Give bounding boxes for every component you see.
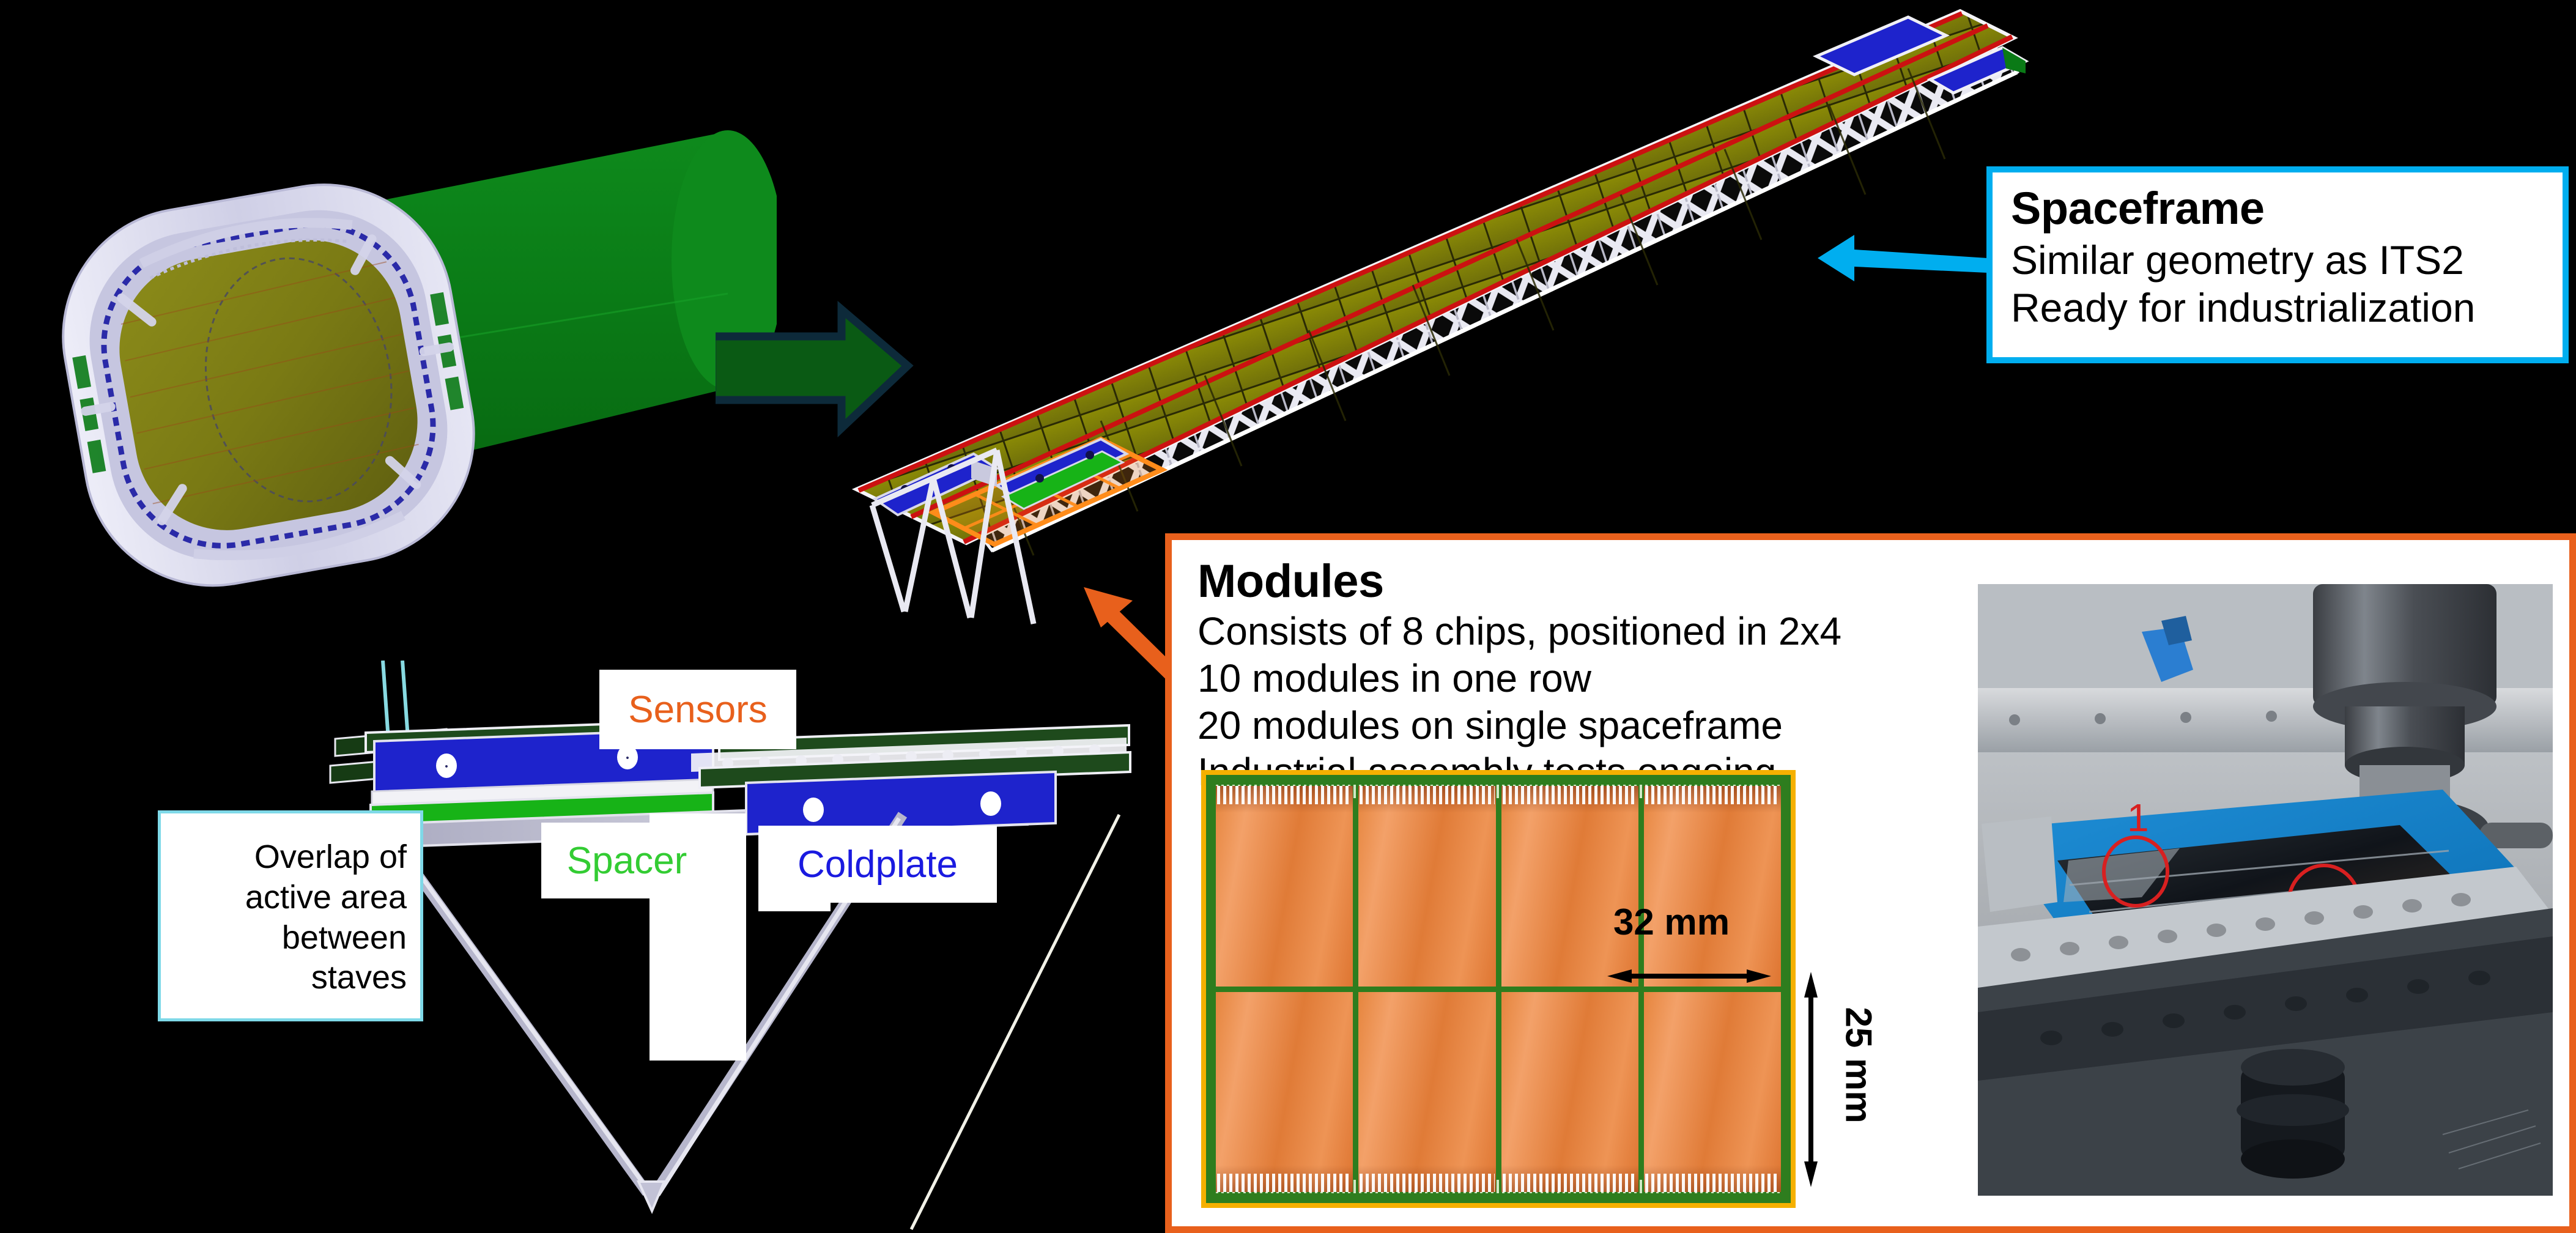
chip-cell xyxy=(1216,992,1353,1193)
assembly-photo: 1 2 xyxy=(1978,584,2553,1196)
spaceframe-line-2: Ready for industrialization xyxy=(2011,284,2547,332)
label-sensors: Sensors xyxy=(599,670,796,749)
barrel-cad-render xyxy=(6,31,777,593)
slide-canvas: Spaceframe Similar geometry as ITS2 Read… xyxy=(0,0,2576,1233)
annotation-label-1: 1 xyxy=(2127,796,2149,840)
svg-text:•: • xyxy=(626,753,629,763)
module-chip-diagram xyxy=(1201,770,1796,1208)
dimension-height-arrow xyxy=(1804,972,1818,1187)
spaceframe-callout: Spaceframe Similar geometry as ITS2 Read… xyxy=(1986,166,2569,363)
overlap-line-1: Overlap of xyxy=(171,837,407,878)
dimension-height: 25 mm xyxy=(1802,972,1893,1192)
modules-text-block: Modules Consists of 8 chips, positioned … xyxy=(1197,555,1950,796)
chip-cell xyxy=(1358,992,1495,1193)
label-sensors-text: Sensors xyxy=(628,688,767,731)
overlap-line-3: between xyxy=(171,918,407,958)
overlap-line-4: staves xyxy=(171,958,407,998)
dimension-width: 32 mm xyxy=(1607,901,1780,987)
modules-title: Modules xyxy=(1197,555,1950,608)
svg-text:•: • xyxy=(445,761,448,772)
spaceframe-line-1: Similar geometry as ITS2 xyxy=(2011,237,2547,284)
dimension-width-label: 32 mm xyxy=(1613,901,1730,943)
modules-callout: Modules Consists of 8 chips, positioned … xyxy=(1165,533,2576,1233)
label-coldplate-text: Coldplate xyxy=(798,843,958,886)
chip-grid xyxy=(1216,786,1781,1192)
spaceframe-title: Spaceframe xyxy=(2011,183,2547,234)
overlap-line-2: active area xyxy=(171,878,407,918)
modules-line-2: 10 modules in one row xyxy=(1197,655,1950,702)
label-spacer: Spacer xyxy=(541,823,712,898)
spaceframe-pointer-arrow xyxy=(1810,220,1994,306)
modules-line-1: Consists of 8 chips, positioned in 2x4 xyxy=(1197,608,1950,655)
dimension-height-label: 25 mm xyxy=(1837,1007,1879,1123)
label-spacer-text: Spacer xyxy=(567,839,687,883)
overlap-callout: Overlap of active area between staves xyxy=(158,810,423,1021)
dimension-width-arrow xyxy=(1607,969,1771,983)
label-coldplate: Coldplate xyxy=(758,826,997,903)
chip-cell xyxy=(1644,992,1781,1193)
chip-cell xyxy=(1216,786,1353,987)
modules-line-3: 20 modules on single spaceframe xyxy=(1197,702,1950,749)
chip-cell xyxy=(1501,992,1638,1193)
chip-cell xyxy=(1358,786,1495,987)
